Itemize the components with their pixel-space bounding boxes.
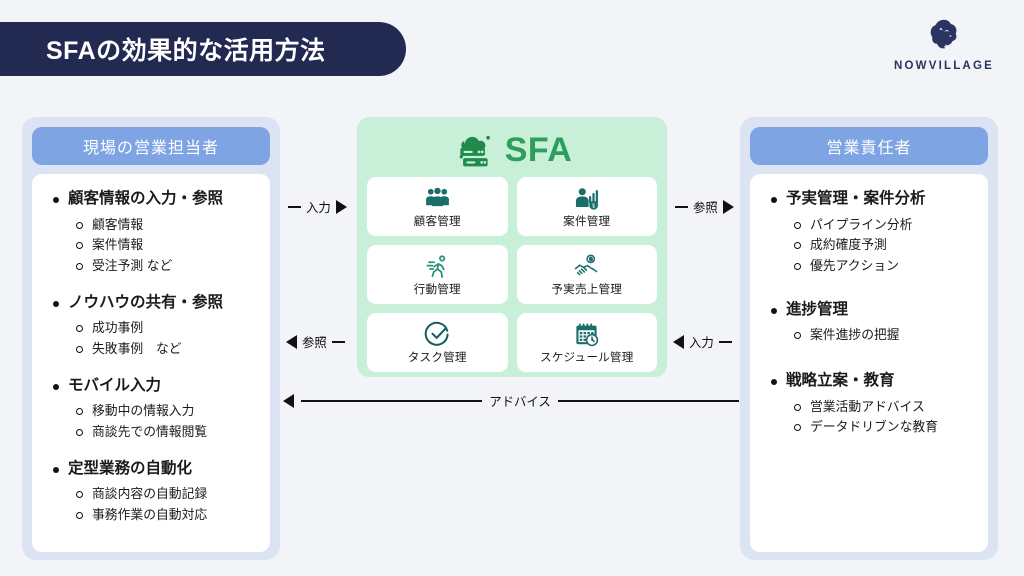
title-bar: SFAの効果的な活用方法 — [0, 22, 406, 76]
list-item: 顧客情報 — [46, 215, 258, 236]
sub-list: 商談内容の自動記録 事務作業の自動対応 — [46, 484, 258, 525]
list-group: モバイル入力 移動中の情報入力 商談先での情報閲覧 — [46, 377, 258, 443]
feature-card-label: 顧客管理 — [414, 213, 461, 229]
list-group: 定型業務の自動化 商談内容の自動記録 事務作業の自動対応 — [46, 460, 258, 526]
sfa-feature-grid: 顧客管理 $ 案件管理 — [367, 177, 657, 372]
connector-line — [675, 206, 688, 209]
running-person-icon — [424, 253, 451, 280]
connector-label: 入力 — [689, 333, 714, 351]
feature-card-schedule[interactable]: スケジュール管理 — [517, 313, 658, 372]
arrow-right-icon — [336, 200, 347, 214]
list-item: 移動中の情報入力 — [46, 401, 258, 422]
group-title: 戦略立案・教育 — [764, 372, 976, 391]
right-panel: 営業責任者 予実管理・案件分析 パイプライン分析 成約確度予測 優先アクション … — [740, 117, 998, 560]
feature-card-revenue[interactable]: 予実売上管理 — [517, 245, 658, 304]
list-item: 事務作業の自動対応 — [46, 505, 258, 526]
list-item: 案件進捗の把握 — [764, 325, 976, 346]
feature-card-label: 予実売上管理 — [551, 281, 622, 297]
list-item: パイプライン分析 — [764, 215, 976, 236]
connector-label: 入力 — [306, 198, 331, 216]
left-panel-body: 顧客情報の入力・参照 顧客情報 案件情報 受注予測 など ノウハウの共有・参照 … — [32, 174, 270, 552]
check-circle-icon — [424, 321, 451, 348]
arrow-left-icon — [286, 335, 297, 349]
handshake-money-icon — [573, 253, 600, 280]
right-panel-body: 予実管理・案件分析 パイプライン分析 成約確度予測 優先アクション 進捗管理 案… — [750, 174, 988, 552]
cloud-server-icon — [452, 130, 496, 170]
arrow-left-icon — [283, 394, 294, 408]
connector-label: アドバイス — [489, 392, 551, 410]
list-item: 成功事例 — [46, 318, 258, 339]
arrow-left-icon — [673, 335, 684, 349]
connector-line — [288, 206, 301, 209]
sub-list: パイプライン分析 成約確度予測 優先アクション — [764, 215, 976, 277]
brand-logo: NOWVILLAGE — [880, 16, 1008, 72]
person-chart-money-icon: $ — [573, 185, 600, 212]
feature-card-activity[interactable]: 行動管理 — [367, 245, 508, 304]
connector-advice: アドバイス — [283, 392, 739, 410]
group-title: 予実管理・案件分析 — [764, 190, 976, 209]
lion-head-icon — [924, 16, 964, 56]
connector-left-reference: 参照 — [286, 333, 345, 351]
sfa-header: SFA — [367, 125, 657, 175]
list-item: 商談先での情報閲覧 — [46, 422, 258, 443]
arrow-right-icon — [723, 200, 734, 214]
slide-canvas: SFAの効果的な活用方法 NOWVILLAGE 現場の営業担当者 顧客情報の入力… — [0, 0, 1024, 576]
svg-text:$: $ — [592, 203, 595, 209]
connector-right-reference: 参照 — [675, 198, 734, 216]
connector-left-input: 入力 — [288, 198, 347, 216]
list-group: 予実管理・案件分析 パイプライン分析 成約確度予測 優先アクション — [764, 190, 976, 277]
connector-label: 参照 — [693, 198, 718, 216]
connector-line — [719, 341, 732, 344]
people-group-icon — [424, 185, 451, 212]
feature-card-label: 案件管理 — [563, 213, 610, 229]
sub-list: 顧客情報 案件情報 受注予測 など — [46, 215, 258, 277]
list-group: ノウハウの共有・参照 成功事例 失敗事例 など — [46, 294, 258, 360]
list-group: 顧客情報の入力・参照 顧客情報 案件情報 受注予測 など — [46, 190, 258, 277]
list-item: 商談内容の自動記録 — [46, 484, 258, 505]
connector-label: 参照 — [302, 333, 327, 351]
connector-line — [332, 341, 345, 344]
group-title: ノウハウの共有・参照 — [46, 294, 258, 313]
list-group: 戦略立案・教育 営業活動アドバイス データドリブンな教育 — [764, 372, 976, 438]
connector-right-input: 入力 — [673, 333, 732, 351]
logo-wordmark: NOWVILLAGE — [894, 60, 994, 72]
group-title: モバイル入力 — [46, 377, 258, 396]
sub-list: 案件進捗の把握 — [764, 325, 976, 346]
list-item: 成約確度予測 — [764, 235, 976, 256]
connector-line — [301, 400, 482, 403]
list-item: 優先アクション — [764, 256, 976, 277]
feature-card-deal[interactable]: $ 案件管理 — [517, 177, 658, 236]
feature-card-customer[interactable]: 顧客管理 — [367, 177, 508, 236]
group-title: 進捗管理 — [764, 301, 976, 320]
page-title: SFAの効果的な活用方法 — [0, 31, 326, 67]
connector-line — [558, 400, 739, 403]
list-item: 失敗事例 など — [46, 339, 258, 360]
feature-card-label: タスク管理 — [408, 349, 467, 365]
feature-card-label: スケジュール管理 — [540, 349, 634, 365]
list-group: 進捗管理 案件進捗の把握 — [764, 301, 976, 346]
feature-card-task[interactable]: タスク管理 — [367, 313, 508, 372]
sub-list: 移動中の情報入力 商談先での情報閲覧 — [46, 401, 258, 442]
left-panel: 現場の営業担当者 顧客情報の入力・参照 顧客情報 案件情報 受注予測 など ノウ… — [22, 117, 280, 560]
group-title: 定型業務の自動化 — [46, 460, 258, 479]
list-item: 受注予測 など — [46, 256, 258, 277]
list-item: 案件情報 — [46, 235, 258, 256]
feature-card-label: 行動管理 — [414, 281, 461, 297]
group-title: 顧客情報の入力・参照 — [46, 190, 258, 209]
right-panel-header: 営業責任者 — [750, 127, 988, 165]
list-item: 営業活動アドバイス — [764, 397, 976, 418]
calendar-clock-icon — [573, 321, 600, 348]
sub-list: 成功事例 失敗事例 など — [46, 318, 258, 359]
list-item: データドリブンな教育 — [764, 417, 976, 438]
sfa-title: SFA — [505, 131, 573, 170]
sub-list: 営業活動アドバイス データドリブンな教育 — [764, 397, 976, 438]
center-sfa-panel: SFA 顧客管理 — [357, 117, 667, 377]
left-panel-header: 現場の営業担当者 — [32, 127, 270, 165]
